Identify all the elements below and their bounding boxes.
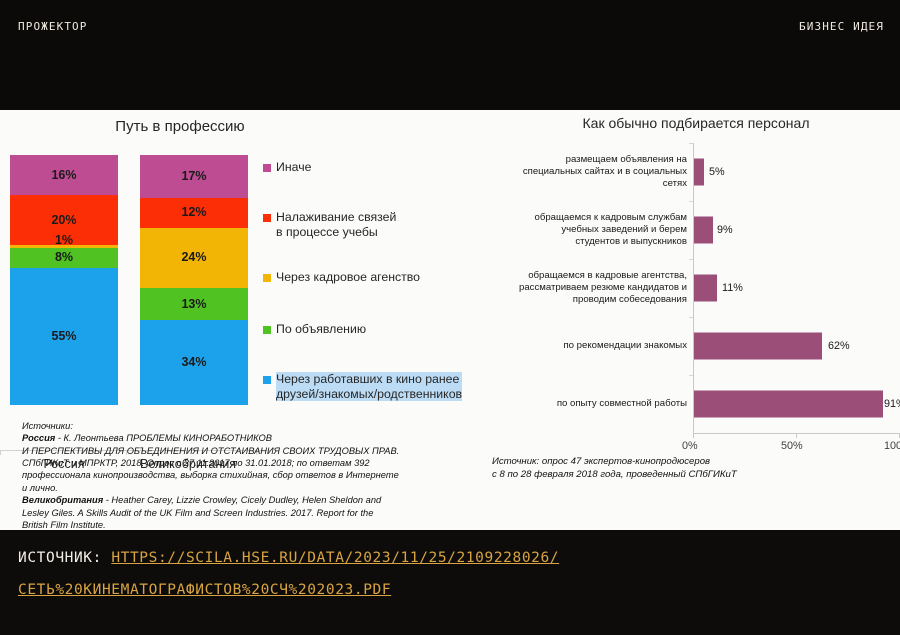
segment-ru-blue-label: 55% <box>51 330 76 343</box>
source-russia-line1: Россия - К. Леонтьева ПРОБЛЕМЫ КИНОРАБОТ… <box>22 432 484 444</box>
right-axis-xlabel-50: 50% <box>781 440 803 452</box>
stacked-bar-uk[interactable]: 34% 13% 24% 12% 17% <box>140 155 248 405</box>
source-russia-line2: И ПЕРСПЕКТИВЫ ДЛЯ ОБЪЕДИНЕНИЯ И ОТСТАИВА… <box>22 445 484 457</box>
bar-label-school-services: обращаемся к кадровым службам учебных за… <box>491 212 687 248</box>
segment-uk-yellow: 24% <box>140 228 248 288</box>
legend-item-friends[interactable]: Через работавших в кино ранее друзей/зна… <box>263 372 462 401</box>
right-source-line1: Источник: опрос 47 экспертов-кинопродюсе… <box>492 455 892 468</box>
bar-label-recruiting-agency-l1: обращаемся в кадровые агентства, <box>528 270 687 281</box>
legend-swatch-green-icon <box>263 326 271 334</box>
right-axis-xlabel-0: 0% <box>682 440 698 452</box>
bar-label-online-ads-l3: сетях <box>663 178 687 189</box>
bar-fill-joint-experience <box>694 391 883 418</box>
bar-label-school-services-l3: студентов и выпускников <box>575 236 687 247</box>
legend-label-friends-line2: друзей/знакомых/родственников <box>276 387 462 401</box>
bar-row-recommendation[interactable]: по рекомендации знакомых 62% <box>492 317 900 375</box>
segment-ru-magenta: 16% <box>10 155 118 195</box>
bar-label-school-services-l1: обращаемся к кадровым службам <box>535 212 687 223</box>
bar-row-school-services[interactable]: обращаемся к кадровым службам учебных за… <box>492 201 900 259</box>
brand-right-label: БИЗНЕС ИДЕЯ <box>799 20 884 33</box>
source-uk-line1: Великобритания - Heather Carey, Lizzie C… <box>22 494 484 506</box>
footer-source-label: ИСТОЧНИК: <box>18 550 102 566</box>
brand-left-label: ПРОЖЕКТОР <box>18 20 88 33</box>
left-axis-tick-0 <box>0 450 1 455</box>
legend-label-friends-line1: Через работавших в кино ранее <box>276 372 459 386</box>
stacked-bar-russia[interactable]: 55% 8% 1% 20% 16% <box>10 155 118 405</box>
legend-label-networking-line2: в процессе учебы <box>276 225 378 239</box>
left-chart-plot: 55% 8% 1% 20% 16% <box>0 155 270 405</box>
footer-line-1: ИСТОЧНИК: HTTPS://SCILA.HSE.RU/DATA/2023… <box>18 550 559 566</box>
legend-item-agency[interactable]: Через кадровое агенство <box>263 270 420 285</box>
bottom-source-band: ИСТОЧНИК: HTTPS://SCILA.HSE.RU/DATA/2023… <box>0 530 900 635</box>
bar-label-online-ads-l1: размещаем объявления на <box>566 154 687 165</box>
content-sheet: Путь в профессию 55% 8% 1% 20% <box>0 110 900 530</box>
bar-value-online-ads: 5% <box>709 166 725 178</box>
segment-ru-blue: 55% <box>10 268 118 406</box>
bar-fill-recommendation <box>694 333 822 360</box>
legend-label-networking-line1: Налаживание связей <box>276 210 396 224</box>
right-chart-panel: Как обычно подбирается персонал размещае… <box>492 110 900 530</box>
left-chart-panel: Путь в профессию 55% 8% 1% 20% <box>0 110 492 530</box>
left-sources-block: Источники: Россия - К. Леонтьева ПРОБЛЕМ… <box>22 420 484 531</box>
legend-swatch-blue-icon <box>263 376 271 384</box>
segment-uk-green: 13% <box>140 288 248 321</box>
bar-label-recruiting-agency-l2: рассматриваем резюме кандидатов и <box>519 282 687 293</box>
bar-label-joint-experience-l1: по опыту совместной работы <box>557 398 687 409</box>
right-source-note: Источник: опрос 47 экспертов-кинопродюсе… <box>492 455 892 481</box>
bar-value-recruiting-agency: 11% <box>722 282 743 294</box>
legend-item-inache[interactable]: Иначе <box>263 160 311 175</box>
right-chart-title: Как обычно подбирается персонал <box>492 115 900 131</box>
bar-value-school-services: 9% <box>717 224 733 236</box>
legend-item-networking[interactable]: Налаживание связей в процессе учебы <box>263 210 396 239</box>
bar-label-recruiting-agency-l3: проводим собеседования <box>573 294 687 305</box>
source-uk-label: Великобритания <box>22 495 103 505</box>
legend-label-friends: Через работавших в кино ранее друзей/зна… <box>276 372 462 401</box>
footer-line-2: СЕТЬ%20КИНЕМАТОГРАФИСТОВ%20СЧ%202023.PDF <box>18 582 391 598</box>
right-axis-tick-0 <box>693 433 694 438</box>
right-axis-tick-50 <box>796 433 797 438</box>
source-russia-text: - К. Леонтьева ПРОБЛЕМЫ КИНОРАБОТНИКОВ <box>55 433 272 443</box>
bar-fill-school-services <box>694 217 713 244</box>
legend-item-advert[interactable]: По объявлению <box>263 322 366 337</box>
source-russia-line5: и лично. <box>22 482 484 494</box>
legend-label-inache: Иначе <box>276 160 311 175</box>
segment-uk-magenta-label: 17% <box>181 170 206 183</box>
left-chart-title: Путь в профессию <box>0 118 360 135</box>
bar-label-joint-experience: по опыту совместной работы <box>491 398 687 410</box>
legend-swatch-red-icon <box>263 214 271 222</box>
bar-label-recommendation: по рекомендации знакомых <box>491 340 687 352</box>
segment-ru-green-label: 8% <box>55 251 73 264</box>
bar-label-online-ads-l2: специальных сайтах и в социальных <box>523 166 687 177</box>
slide-root: ПРОЖЕКТОР БИЗНЕС ИДЕЯ Путь в профессию 5… <box>0 0 900 635</box>
segment-ru-yellow: 1% <box>10 245 118 248</box>
segment-uk-yellow-label: 24% <box>181 251 206 264</box>
segment-uk-blue-label: 34% <box>181 356 206 369</box>
bar-label-recommendation-l1: по рекомендации знакомых <box>563 340 687 351</box>
footer-source-url-line2[interactable]: СЕТЬ%20КИНЕМАТОГРАФИСТОВ%20СЧ%202023.PDF <box>18 582 391 598</box>
top-header-band: ПРОЖЕКТОР БИЗНЕС ИДЕЯ <box>0 0 900 110</box>
source-uk-line2: Lesley Giles. A Skills Audit of the UK F… <box>22 507 484 519</box>
source-russia-line4: профессионала кинопроизводства, выборка … <box>22 469 484 481</box>
source-russia-line3: СПбГИКиТ и МПРКТР, 2018. Опрос с 27.11.2… <box>22 457 484 469</box>
legend-label-networking: Налаживание связей в процессе учебы <box>276 210 396 239</box>
bar-value-recommendation: 62% <box>828 340 850 352</box>
segment-ru-magenta-label: 16% <box>51 169 76 182</box>
source-russia-label: Россия <box>22 433 55 443</box>
segment-uk-red-label: 12% <box>181 206 206 219</box>
bar-label-recruiting-agency: обращаемся в кадровые агентства, рассмат… <box>491 270 687 306</box>
bar-row-recruiting-agency[interactable]: обращаемся в кадровые агентства, рассмат… <box>492 259 900 317</box>
legend-swatch-magenta-icon <box>263 164 271 172</box>
bar-fill-recruiting-agency <box>694 275 717 302</box>
source-uk-text: - Heather Carey, Lizzie Crowley, Cicely … <box>103 495 381 505</box>
right-chart-plot: размещаем объявления на специальных сайт… <box>492 143 900 433</box>
footer-source-url-line1[interactable]: HTTPS://SCILA.HSE.RU/DATA/2023/11/25/210… <box>111 550 559 566</box>
segment-ru-green: 8% <box>10 248 118 268</box>
segment-uk-magenta: 17% <box>140 155 248 198</box>
legend-label-agency: Через кадровое агенство <box>276 270 420 285</box>
right-source-line2: с 8 по 28 февраля 2018 года, проведенный… <box>492 468 892 481</box>
bar-label-online-ads: размещаем объявления на специальных сайт… <box>491 154 687 190</box>
bar-row-joint-experience[interactable]: по опыту совместной работы 91% <box>492 375 900 433</box>
segment-uk-blue: 34% <box>140 320 248 405</box>
segment-ru-yellow-label: 1% <box>55 234 73 247</box>
bar-fill-online-ads <box>694 159 704 186</box>
legend-label-advert: По объявлению <box>276 322 366 337</box>
legend-swatch-yellow-icon <box>263 274 271 282</box>
segment-uk-red: 12% <box>140 198 248 228</box>
segment-uk-green-label: 13% <box>181 298 206 311</box>
bar-row-online-ads[interactable]: размещаем объявления на специальных сайт… <box>492 143 900 201</box>
bar-label-school-services-l2: учебных заведений и берем <box>561 224 687 235</box>
sources-heading: Источники: <box>22 420 484 432</box>
bar-value-joint-experience: 91% <box>884 398 900 410</box>
right-axis-xlabel-100: 100% <box>884 440 900 452</box>
segment-ru-red-label: 20% <box>51 214 76 227</box>
